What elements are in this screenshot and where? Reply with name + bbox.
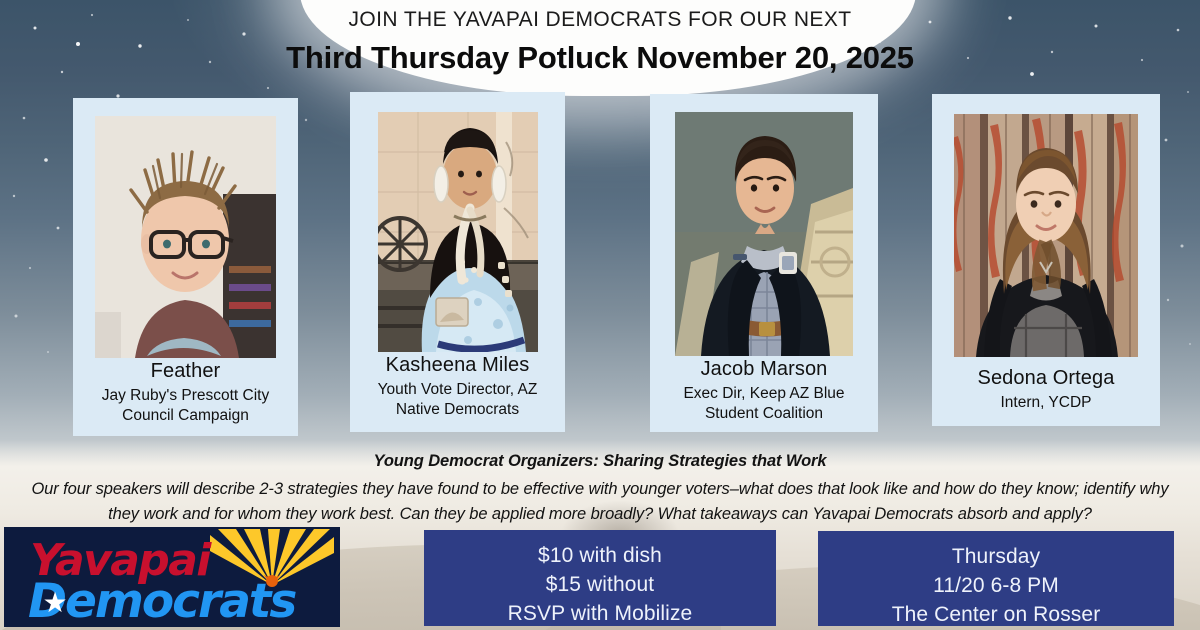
event-venue: The Center on Rosser [818,600,1174,629]
price-line-2: $15 without [424,570,776,599]
event-flyer: JOIN THE YAVAPAI DEMOCRATS FOR OUR NEXT … [0,0,1200,630]
yavapai-democrats-logo: Yavapai Democrats ★ [4,527,340,627]
event-date-time: 11/20 6-8 PM [818,571,1174,600]
speaker-role-line-1: Intern, YCDP [932,393,1160,413]
speaker-caption: Sedona Ortega Intern, YCDP [932,367,1160,413]
rsvp-line[interactable]: RSVP with Mobilize [424,599,776,628]
speaker-card: Jacob Marson Exec Dir, Keep AZ Blue Stud… [650,94,878,432]
speaker-card-list: Feather Jay Ruby's Prescott City Council… [0,0,1200,440]
portrait-jacob-marson-illustration [675,112,853,356]
description-title: Young Democrat Organizers: Sharing Strat… [0,452,1200,471]
speaker-name: Kasheena Miles [350,354,565,377]
portrait-sedona-ortega-illustration [954,114,1138,357]
portrait-kasheena-miles-illustration [378,112,538,352]
speaker-photo [675,112,853,356]
description-body: Our four speakers will describe 2-3 stra… [0,477,1200,527]
speaker-role-line-2: Council Campaign [73,406,298,426]
speaker-card: Kasheena Miles Youth Vote Director, AZ N… [350,92,565,432]
speaker-role-line-2: Native Democrats [350,400,565,420]
when-where-info-banner: Thursday 11/20 6-8 PM The Center on Ross… [818,531,1174,626]
speaker-card: Sedona Ortega Intern, YCDP [932,94,1160,426]
speaker-photo [95,116,276,358]
price-line-1: $10 with dish [424,541,776,570]
speaker-caption: Kasheena Miles Youth Vote Director, AZ N… [350,354,565,420]
description-block: Young Democrat Organizers: Sharing Strat… [0,452,1200,527]
speaker-role-line-2: Student Coalition [650,404,878,424]
speaker-caption: Jacob Marson Exec Dir, Keep AZ Blue Stud… [650,358,878,424]
star-icon: ★ [41,589,69,617]
speaker-role-line-1: Exec Dir, Keep AZ Blue [650,384,878,404]
speaker-name: Jacob Marson [650,358,878,381]
speaker-photo [954,114,1138,357]
speaker-name: Feather [73,360,298,383]
speaker-caption: Feather Jay Ruby's Prescott City Council… [73,360,298,426]
speaker-role-line-1: Jay Ruby's Prescott City [73,386,298,406]
speaker-photo [378,112,538,352]
speaker-card: Feather Jay Ruby's Prescott City Council… [73,98,298,436]
portrait-feather-illustration [95,116,276,358]
speaker-name: Sedona Ortega [932,367,1160,390]
price-info-banner: $10 with dish $15 without RSVP with Mobi… [424,530,776,626]
event-day: Thursday [818,542,1174,571]
speaker-role-line-1: Youth Vote Director, AZ [350,380,565,400]
